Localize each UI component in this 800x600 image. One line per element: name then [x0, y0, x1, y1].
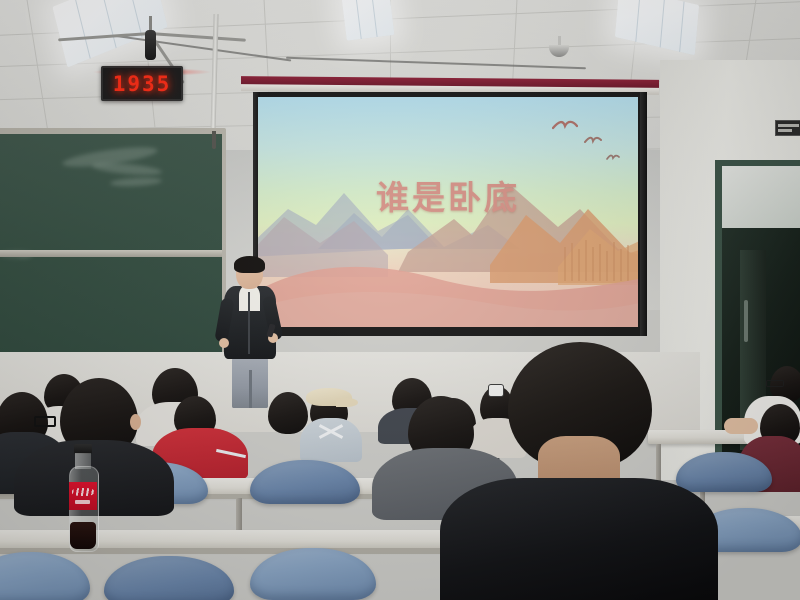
- door-transom-window: [722, 166, 800, 228]
- chair-f1[interactable]: [0, 552, 90, 600]
- student-cap-brim: [336, 398, 358, 407]
- projection-screen: 谁是卧底: [258, 97, 638, 327]
- led-wall-clock: 1935: [101, 66, 183, 101]
- bottle-label-script: [72, 488, 94, 496]
- door-handle[interactable]: [744, 300, 748, 342]
- slide-title: 谁是卧底: [258, 171, 638, 219]
- bottle-label: [69, 482, 97, 510]
- screen-edge-right: [640, 92, 647, 336]
- student-body-capped: [300, 418, 362, 462]
- presenter: [219, 258, 281, 406]
- student-ear: [130, 414, 141, 430]
- chair-f3[interactable]: [250, 548, 376, 600]
- door-sign: [775, 120, 800, 136]
- bird-icon-small: [606, 153, 620, 163]
- student-arm-white: [724, 418, 758, 434]
- bird-icon-medium: [584, 135, 602, 147]
- clock-time-display: 1935: [113, 72, 172, 96]
- classroom-photo: 1935: [0, 0, 800, 600]
- chair-f2[interactable]: [104, 556, 234, 600]
- bottle-label-text: [75, 500, 90, 504]
- glasses-icon-left: [34, 416, 56, 427]
- hair-clip: [488, 384, 504, 397]
- coca-cola-bottle: [66, 444, 100, 550]
- student-body-foreground: [440, 478, 718, 600]
- glasses-icon: [766, 380, 784, 387]
- chair-m3[interactable]: [250, 460, 360, 504]
- presenter-hair: [234, 256, 265, 273]
- ceiling-light-center: [340, 0, 395, 41]
- board-hook: [212, 131, 216, 149]
- chalkboard-divider: [0, 250, 222, 257]
- student-head-back-4: [268, 392, 308, 434]
- bottle-liquid: [70, 522, 96, 549]
- bird-icon-large: [552, 119, 578, 135]
